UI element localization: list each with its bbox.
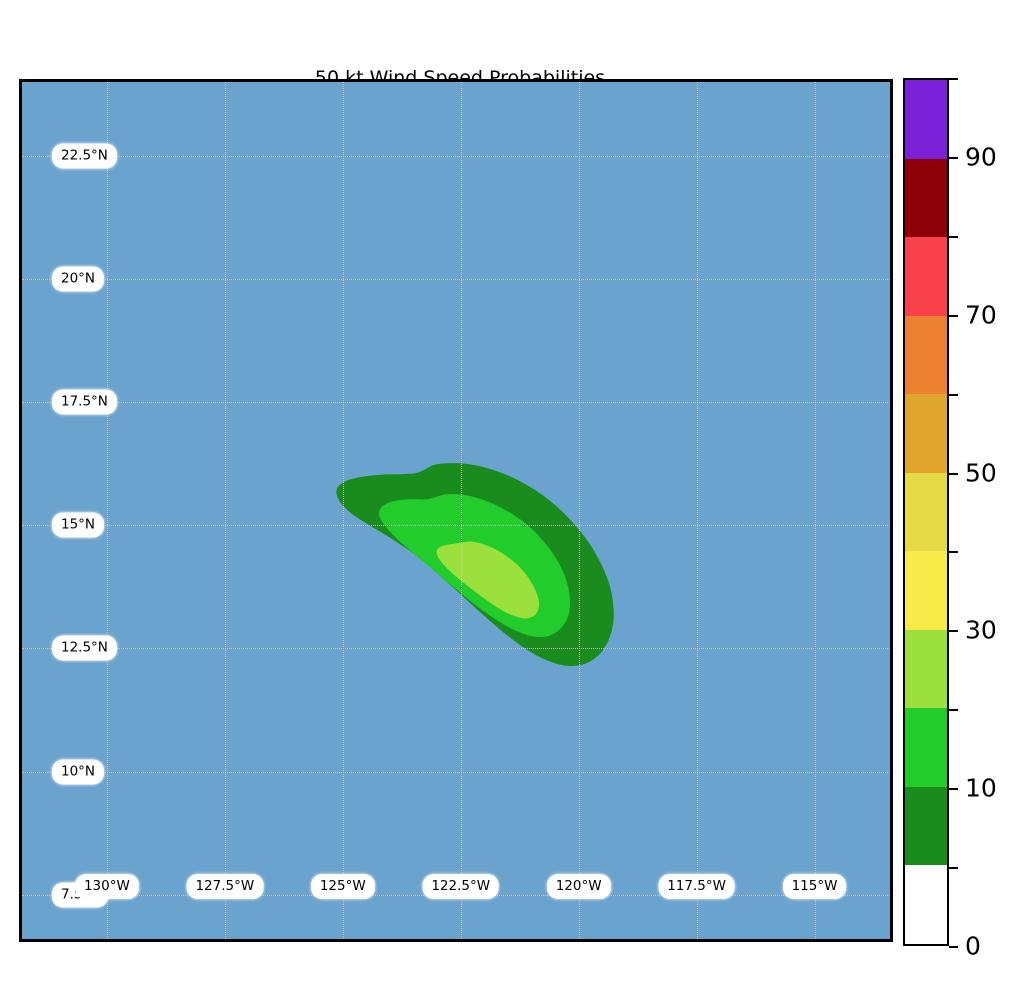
colorbar-tick (949, 709, 958, 711)
lat-tick-label: 15°N (54, 515, 102, 536)
colorbar-band-40-50 (905, 473, 947, 552)
colorbar-tick-label: 0 (965, 932, 981, 961)
colorbar-tick (949, 394, 958, 396)
lon-tick-label: 130°W (77, 876, 137, 897)
lat-tick-label: 17.5°N (54, 392, 115, 413)
lon-tick-label: 120°W (549, 876, 609, 897)
lon-tick-label: 115°W (785, 876, 845, 897)
colorbar-band-10-20 (905, 708, 947, 787)
colorbar-band-20-30 (905, 630, 947, 709)
colorbar-band-0-5 (905, 865, 947, 944)
colorbar-tick-label: 30 (965, 616, 997, 645)
lat-tick-label: 10°N (54, 761, 102, 782)
colorbar-tick (949, 946, 958, 948)
colorbar-band-5-10 (905, 787, 947, 866)
colorbar-tick (949, 867, 958, 869)
map-panel[interactable]: 22.5°N20°N17.5°N15°N12.5°N10°N7.5°N (19, 79, 893, 942)
colorbar-tick (949, 630, 958, 632)
colorbar-band-70-80 (905, 237, 947, 316)
colorbar-band-80-90 (905, 159, 947, 238)
colorbar-tick (949, 78, 958, 80)
colorbar-tick (949, 315, 958, 317)
colorbar-tick (949, 551, 958, 553)
colorbar-tick (949, 788, 958, 790)
colorbar-tick-label: 90 (965, 142, 997, 171)
figure-canvas: 50 kt Wind Speed Probabilities For the 1… (0, 0, 1024, 984)
colorbar-bands (903, 78, 949, 946)
probability-contour-layer (22, 82, 890, 939)
lat-tick-label: 20°N (54, 269, 102, 290)
lat-tick-label: 12.5°N (54, 638, 115, 659)
colorbar-tick-label: 50 (965, 458, 997, 487)
colorbar-band-60-70 (905, 316, 947, 395)
lon-tick-label: 117.5°W (660, 876, 733, 897)
colorbar-band-90-100 (905, 80, 947, 159)
colorbar-tick (949, 473, 958, 475)
lat-tick-label: 22.5°N (54, 145, 115, 166)
colorbar-tick (949, 157, 958, 159)
lon-tick-label: 122.5°W (424, 876, 497, 897)
colorbar-band-50-60 (905, 394, 947, 473)
colorbar[interactable]: 01030507090 (903, 78, 949, 946)
colorbar-tick (949, 236, 958, 238)
colorbar-tick-label: 10 (965, 774, 997, 803)
lon-tick-label: 125°W (313, 876, 373, 897)
lon-tick-label: 127.5°W (188, 876, 261, 897)
colorbar-band-30-40 (905, 551, 947, 630)
colorbar-tick-label: 70 (965, 300, 997, 329)
